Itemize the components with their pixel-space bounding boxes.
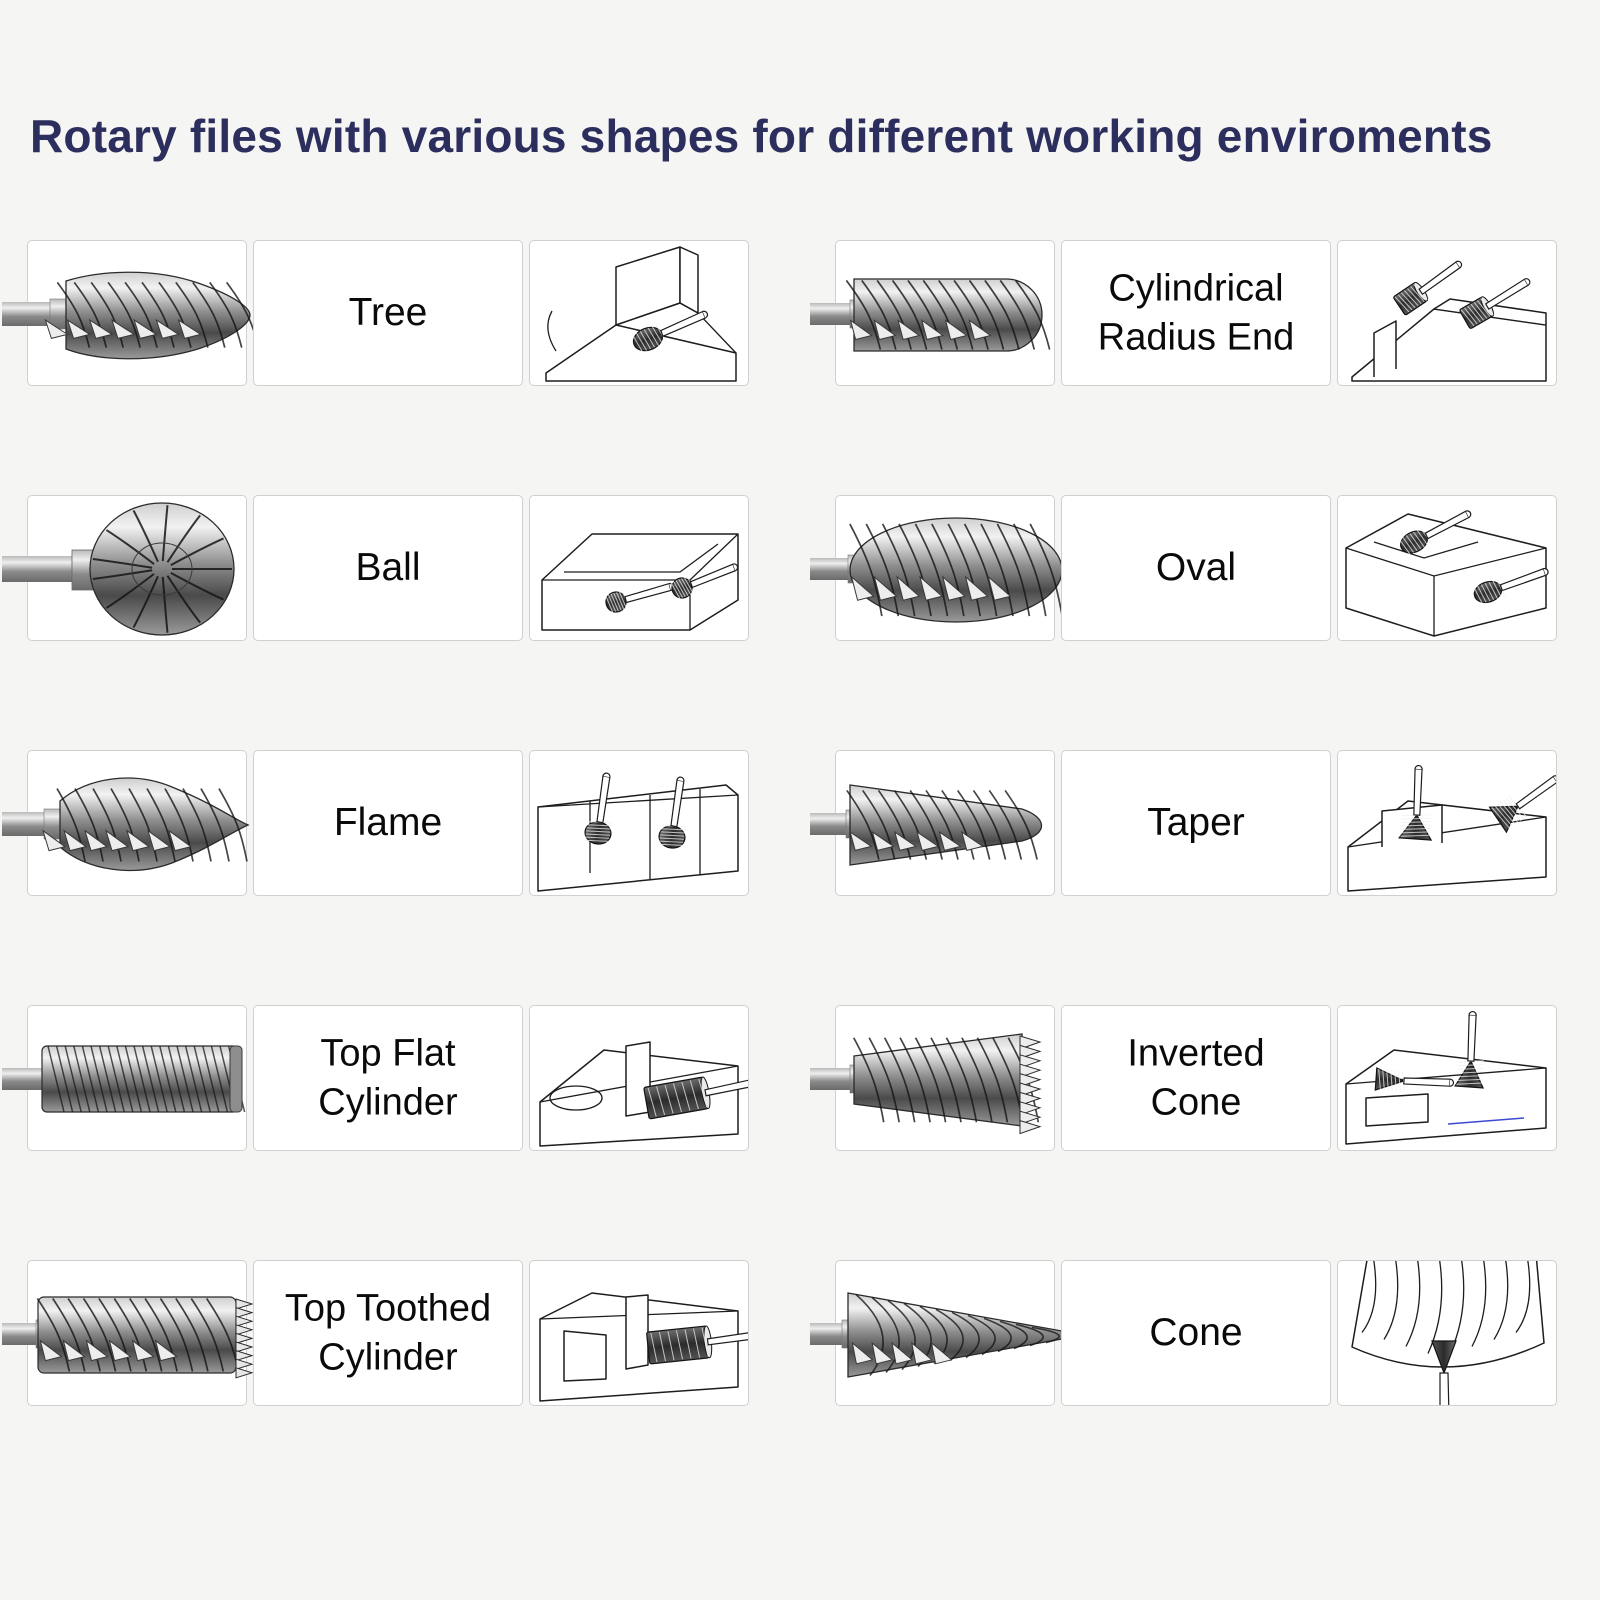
shape-label-line: Cylinder: [262, 1333, 514, 1382]
usage-illustration-card[interactable]: [1337, 495, 1557, 641]
usage-illustration-card[interactable]: [1337, 1260, 1557, 1406]
shape-label-text: Top ToothedCylinder: [254, 1284, 522, 1381]
ball-burr-usage-illustration: [530, 496, 748, 640]
flame-burr-usage-illustration: [530, 751, 748, 895]
shape-label-line: Radius End: [1070, 313, 1322, 362]
cone-burr-photo: [810, 1257, 1082, 1411]
shape-label-text: Top FlatCylinder: [254, 1029, 522, 1126]
shape-label-card[interactable]: Taper: [1061, 750, 1331, 896]
burr-photo-card[interactable]: [835, 495, 1055, 641]
shape-label-card[interactable]: InvertedCone: [1061, 1005, 1331, 1151]
shape-row: BallOval: [0, 493, 1600, 748]
shape-label-text: InvertedCone: [1062, 1029, 1330, 1126]
shape-row: Top ToothedCylinderCone: [0, 1258, 1600, 1513]
shape-label-line: Taper: [1070, 798, 1322, 848]
usage-illustration-card[interactable]: [529, 240, 749, 386]
shape-label-line: Oval: [1070, 543, 1322, 593]
usage-illustration-card[interactable]: [529, 1260, 749, 1406]
shape-label-card[interactable]: Top ToothedCylinder: [253, 1260, 523, 1406]
shape-row: FlameTaper: [0, 748, 1600, 1003]
flame-burr-photo: [2, 747, 274, 901]
shape-label-card[interactable]: Top FlatCylinder: [253, 1005, 523, 1151]
top-toothed-cylinder-burr-usage-illustration: [530, 1261, 748, 1405]
shape-label-line: Tree: [262, 288, 514, 338]
top-flat-cylinder-burr-usage-illustration: [530, 1006, 748, 1150]
shape-label-line: Top Flat: [262, 1029, 514, 1078]
shape-label-line: Cone: [1070, 1308, 1322, 1358]
shape-label-card[interactable]: Flame: [253, 750, 523, 896]
burr-photo-card[interactable]: [27, 1005, 247, 1151]
shape-label-text: Ball: [254, 543, 522, 593]
usage-illustration-card[interactable]: [529, 1005, 749, 1151]
shape-label-text: Oval: [1062, 543, 1330, 593]
shape-row: Top FlatCylinderInvertedCone: [0, 1003, 1600, 1258]
page-title: Rotary files with various shapes for dif…: [30, 109, 1493, 163]
cylindrical-radius-end-burr-photo: [810, 237, 1082, 391]
usage-illustration-card[interactable]: [529, 495, 749, 641]
burr-photo-card[interactable]: [27, 495, 247, 641]
taper-burr-photo: [810, 747, 1082, 901]
cone-burr-usage-illustration: [1338, 1261, 1556, 1405]
shape-label-text: Cone: [1062, 1308, 1330, 1358]
burr-photo-card[interactable]: [27, 750, 247, 896]
tree-burr-photo: [2, 237, 274, 391]
oval-burr-photo: [810, 492, 1082, 646]
burr-photo-card[interactable]: [835, 750, 1055, 896]
burr-photo-card[interactable]: [27, 240, 247, 386]
usage-illustration-card[interactable]: [1337, 240, 1557, 386]
shape-label-line: Top Toothed: [262, 1284, 514, 1333]
shape-grid: TreeCylindricalRadius EndBallOvalFlameTa…: [0, 238, 1600, 1513]
shape-label-text: CylindricalRadius End: [1062, 264, 1330, 361]
shape-label-text: Tree: [254, 288, 522, 338]
ball-burr-photo: [2, 492, 274, 646]
shape-label-card[interactable]: CylindricalRadius End: [1061, 240, 1331, 386]
shape-label-card[interactable]: Ball: [253, 495, 523, 641]
usage-illustration-card[interactable]: [1337, 750, 1557, 896]
burr-photo-card[interactable]: [27, 1260, 247, 1406]
usage-illustration-card[interactable]: [529, 750, 749, 896]
inverted-cone-burr-photo: [810, 1002, 1082, 1156]
burr-photo-card[interactable]: [835, 1005, 1055, 1151]
oval-burr-usage-illustration: [1338, 496, 1556, 640]
shape-label-line: Flame: [262, 798, 514, 848]
shape-label-card[interactable]: Tree: [253, 240, 523, 386]
burr-photo-card[interactable]: [835, 1260, 1055, 1406]
tree-burr-usage-illustration: [530, 241, 748, 385]
cylindrical-radius-end-burr-usage-illustration: [1338, 241, 1556, 385]
shape-label-line: Cone: [1070, 1078, 1322, 1127]
taper-burr-usage-illustration: [1338, 751, 1556, 895]
shape-label-line: Cylinder: [262, 1078, 514, 1127]
top-toothed-cylinder-burr-photo: [2, 1257, 274, 1411]
top-flat-cylinder-burr-photo: [2, 1002, 274, 1156]
inverted-cone-burr-usage-illustration: [1338, 1006, 1556, 1150]
shape-label-line: Cylindrical: [1070, 264, 1322, 313]
shape-label-card[interactable]: Cone: [1061, 1260, 1331, 1406]
shape-label-line: Inverted: [1070, 1029, 1322, 1078]
shape-label-text: Taper: [1062, 798, 1330, 848]
usage-illustration-card[interactable]: [1337, 1005, 1557, 1151]
burr-photo-card[interactable]: [835, 240, 1055, 386]
shape-label-line: Ball: [262, 543, 514, 593]
shape-row: TreeCylindricalRadius End: [0, 238, 1600, 493]
shape-label-text: Flame: [254, 798, 522, 848]
shape-label-card[interactable]: Oval: [1061, 495, 1331, 641]
